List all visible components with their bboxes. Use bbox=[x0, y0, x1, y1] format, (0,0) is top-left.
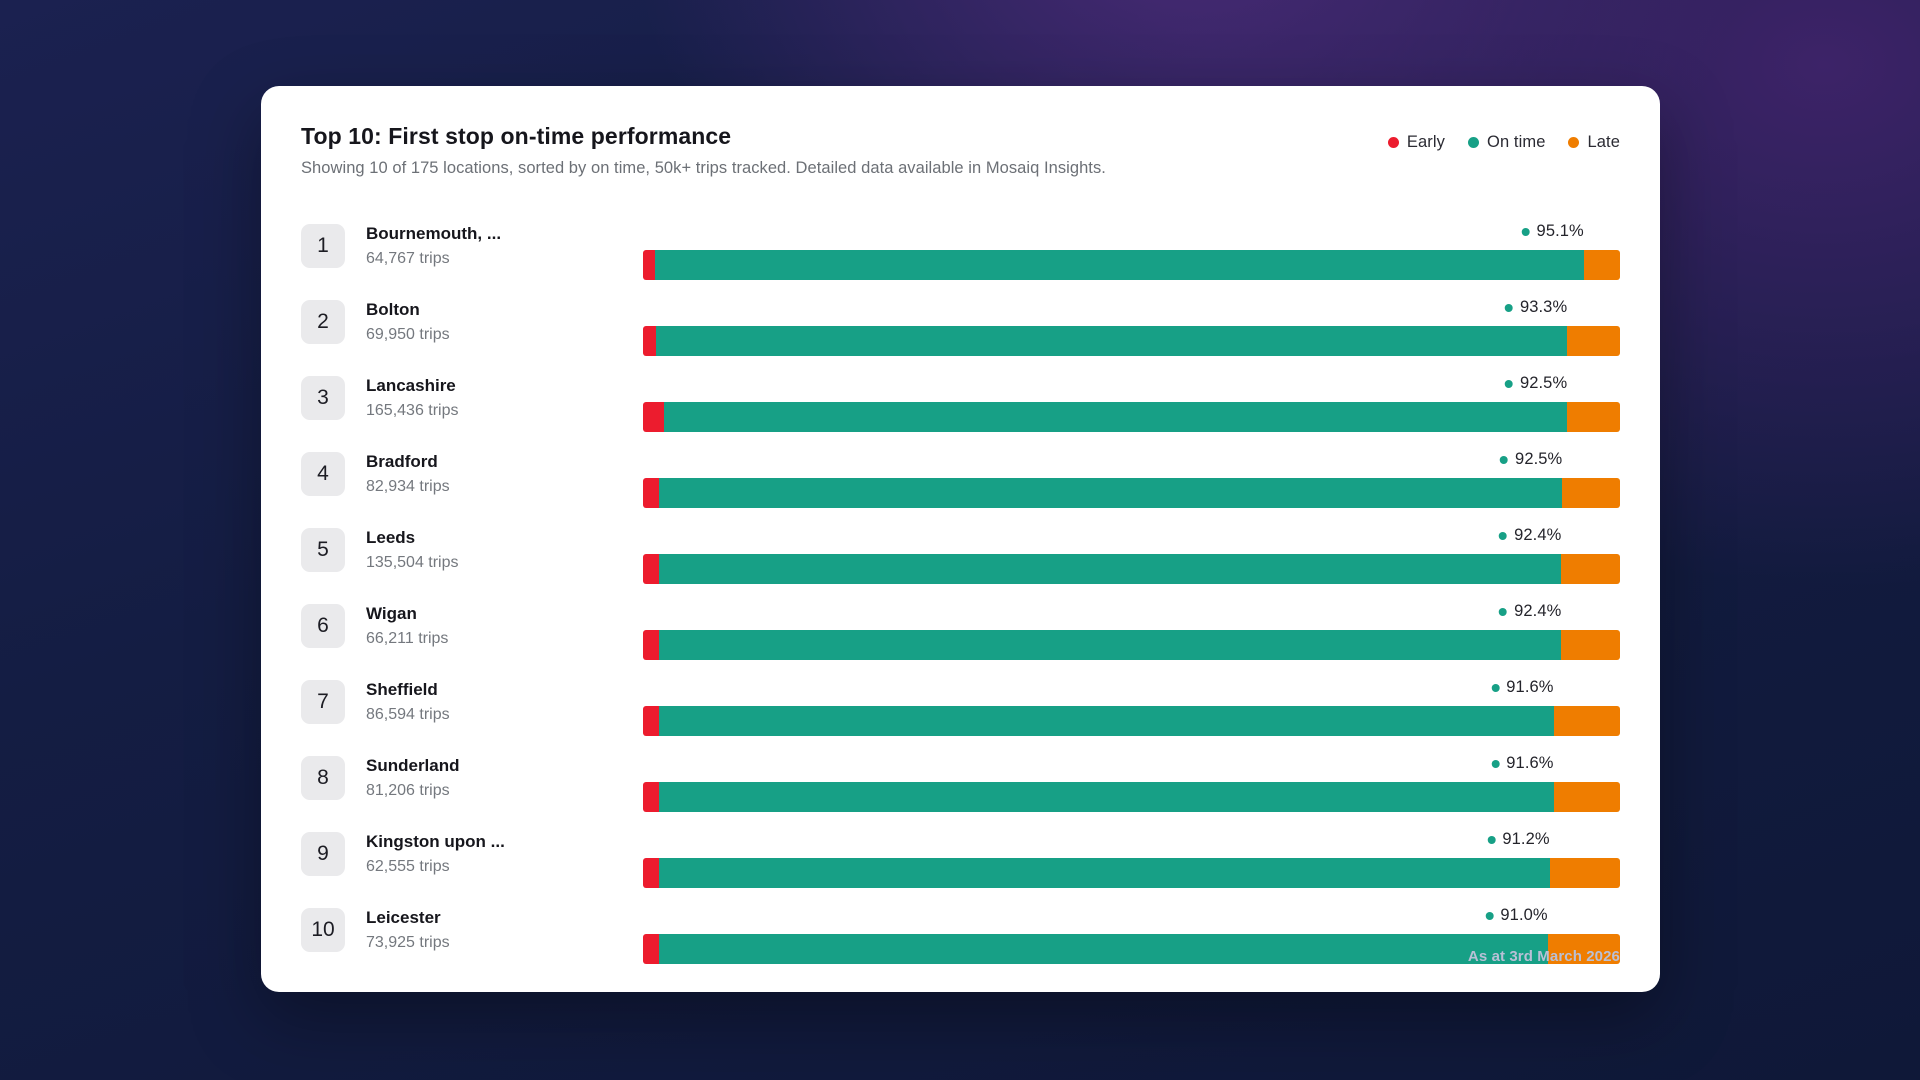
on-time-dot-icon bbox=[1500, 456, 1508, 464]
on-time-percentage-tag: 91.6% bbox=[1491, 678, 1553, 697]
rank-badge: 6 bbox=[301, 604, 345, 648]
trips-count: 86,594 trips bbox=[366, 705, 591, 725]
bar-segment-late[interactable] bbox=[1567, 326, 1620, 356]
stacked-bar[interactable] bbox=[643, 554, 1620, 584]
bar-segment-early[interactable] bbox=[643, 630, 659, 660]
bar-segment-early[interactable] bbox=[643, 934, 659, 964]
location-name: Bournemouth, ... bbox=[366, 223, 591, 244]
on-time-percentage-value: 92.5% bbox=[1520, 374, 1567, 393]
rank-badge: 4 bbox=[301, 452, 345, 496]
ranking-row[interactable]: 4Bradford82,934 trips92.5% bbox=[301, 436, 1620, 512]
bar-segment-early[interactable] bbox=[643, 858, 659, 888]
bar-area: 95.1% bbox=[643, 208, 1620, 284]
row-labels: Sheffield86,594 trips bbox=[366, 679, 591, 724]
row-labels: Wigan66,211 trips bbox=[366, 603, 591, 648]
bar-segment-late[interactable] bbox=[1584, 250, 1620, 280]
rank-badge: 9 bbox=[301, 832, 345, 876]
ranking-row[interactable]: 9Kingston upon ...62,555 trips91.2% bbox=[301, 816, 1620, 892]
bar-segment-ontime[interactable] bbox=[659, 478, 1563, 508]
bar-segment-early[interactable] bbox=[643, 402, 664, 432]
bar-segment-ontime[interactable] bbox=[664, 402, 1568, 432]
on-time-dot-icon bbox=[1505, 380, 1513, 388]
ranking-list: 1Bournemouth, ...64,767 trips95.1%2Bolto… bbox=[301, 208, 1620, 968]
bar-segment-early[interactable] bbox=[643, 250, 655, 280]
ranking-row[interactable]: 3Lancashire165,436 trips92.5% bbox=[301, 360, 1620, 436]
bar-segment-late[interactable] bbox=[1561, 554, 1620, 584]
location-name: Kingston upon ... bbox=[366, 831, 591, 852]
on-time-dot-icon bbox=[1505, 304, 1513, 312]
bar-area: 92.4% bbox=[643, 512, 1620, 588]
page-subtitle: Showing 10 of 175 locations, sorted by o… bbox=[301, 158, 1620, 179]
bar-segment-ontime[interactable] bbox=[656, 326, 1568, 356]
bar-area: 91.6% bbox=[643, 740, 1620, 816]
rank-badge: 2 bbox=[301, 300, 345, 344]
bar-segment-ontime[interactable] bbox=[655, 250, 1584, 280]
ranking-row[interactable]: 7Sheffield86,594 trips91.6% bbox=[301, 664, 1620, 740]
bar-area: 92.5% bbox=[643, 436, 1620, 512]
trips-count: 62,555 trips bbox=[366, 857, 591, 877]
row-labels: Kingston upon ...62,555 trips bbox=[366, 831, 591, 876]
bar-area: 92.4% bbox=[643, 588, 1620, 664]
location-name: Wigan bbox=[366, 603, 591, 624]
bar-segment-ontime[interactable] bbox=[659, 706, 1554, 736]
legend-item-late[interactable]: Late bbox=[1568, 133, 1620, 152]
performance-card: Top 10: First stop on-time performance S… bbox=[261, 86, 1660, 992]
trips-count: 73,925 trips bbox=[366, 933, 591, 953]
on-time-dot-icon bbox=[1491, 760, 1499, 768]
rank-badge: 8 bbox=[301, 756, 345, 800]
bar-segment-late[interactable] bbox=[1554, 782, 1620, 812]
row-labels: Leicester73,925 trips bbox=[366, 907, 591, 952]
on-time-percentage-value: 93.3% bbox=[1520, 298, 1567, 317]
row-labels: Leeds135,504 trips bbox=[366, 527, 591, 572]
row-labels: Lancashire165,436 trips bbox=[366, 375, 591, 420]
on-time-percentage-tag: 92.4% bbox=[1499, 602, 1561, 621]
on-time-dot-icon bbox=[1499, 608, 1507, 616]
location-name: Lancashire bbox=[366, 375, 591, 396]
on-time-dot-icon bbox=[1487, 836, 1495, 844]
on-time-percentage-value: 91.0% bbox=[1500, 906, 1547, 925]
chart-legend: EarlyOn timeLate bbox=[1388, 133, 1620, 152]
card-header: Top 10: First stop on-time performance S… bbox=[301, 122, 1620, 196]
as-at-date: As at 3rd March 2026 bbox=[1468, 948, 1620, 965]
row-labels: Bradford82,934 trips bbox=[366, 451, 591, 496]
stacked-bar[interactable] bbox=[643, 782, 1620, 812]
on-time-percentage-tag: 92.5% bbox=[1505, 374, 1567, 393]
bar-area: 92.5% bbox=[643, 360, 1620, 436]
location-name: Bradford bbox=[366, 451, 591, 472]
on-time-percentage-tag: 91.0% bbox=[1485, 906, 1547, 925]
bar-segment-late[interactable] bbox=[1550, 858, 1620, 888]
stacked-bar[interactable] bbox=[643, 250, 1620, 280]
bar-segment-early[interactable] bbox=[643, 326, 656, 356]
stacked-bar[interactable] bbox=[643, 478, 1620, 508]
location-name: Bolton bbox=[366, 299, 591, 320]
trips-count: 135,504 trips bbox=[366, 553, 591, 573]
stacked-bar[interactable] bbox=[643, 402, 1620, 432]
stacked-bar[interactable] bbox=[643, 630, 1620, 660]
on-time-dot-icon bbox=[1485, 912, 1493, 920]
bar-area: 93.3% bbox=[643, 284, 1620, 360]
on-time-percentage-value: 91.6% bbox=[1506, 754, 1553, 773]
bar-segment-ontime[interactable] bbox=[659, 630, 1562, 660]
bar-segment-early[interactable] bbox=[643, 782, 659, 812]
bar-segment-early[interactable] bbox=[643, 706, 659, 736]
location-name: Sunderland bbox=[366, 755, 591, 776]
location-name: Leeds bbox=[366, 527, 591, 548]
ranking-row[interactable]: 6Wigan66,211 trips92.4% bbox=[301, 588, 1620, 664]
on-time-percentage-value: 91.2% bbox=[1502, 830, 1549, 849]
on-time-percentage-value: 95.1% bbox=[1537, 222, 1584, 241]
on-time-percentage-tag: 91.2% bbox=[1487, 830, 1549, 849]
rank-badge: 3 bbox=[301, 376, 345, 420]
trips-count: 69,950 trips bbox=[366, 325, 591, 345]
ranking-row[interactable]: 10Leicester73,925 trips91.0% bbox=[301, 892, 1620, 968]
bar-segment-late[interactable] bbox=[1561, 630, 1620, 660]
trips-count: 165,436 trips bbox=[366, 401, 591, 421]
on-time-percentage-tag: 92.5% bbox=[1500, 450, 1562, 469]
ranking-row[interactable]: 5Leeds135,504 trips92.4% bbox=[301, 512, 1620, 588]
rank-badge: 1 bbox=[301, 224, 345, 268]
on-time-dot-icon bbox=[1522, 228, 1530, 236]
legend-dot-icon bbox=[1568, 137, 1579, 148]
row-labels: Bolton69,950 trips bbox=[366, 299, 591, 344]
stacked-bar[interactable] bbox=[643, 858, 1620, 888]
on-time-percentage-tag: 91.6% bbox=[1491, 754, 1553, 773]
row-labels: Bournemouth, ...64,767 trips bbox=[366, 223, 591, 268]
bar-segment-ontime[interactable] bbox=[659, 782, 1554, 812]
legend-item-early[interactable]: Early bbox=[1388, 133, 1445, 152]
bar-area: 91.6% bbox=[643, 664, 1620, 740]
legend-label: On time bbox=[1487, 133, 1545, 152]
trips-count: 64,767 trips bbox=[366, 249, 591, 269]
trips-count: 82,934 trips bbox=[366, 477, 591, 497]
location-name: Leicester bbox=[366, 907, 591, 928]
on-time-percentage-value: 91.6% bbox=[1506, 678, 1553, 697]
trips-count: 66,211 trips bbox=[366, 629, 591, 649]
location-name: Sheffield bbox=[366, 679, 591, 700]
rank-badge: 5 bbox=[301, 528, 345, 572]
legend-item-on-time[interactable]: On time bbox=[1468, 133, 1545, 152]
ranking-row[interactable]: 8Sunderland81,206 trips91.6% bbox=[301, 740, 1620, 816]
bar-segment-ontime[interactable] bbox=[659, 554, 1562, 584]
on-time-percentage-tag: 92.4% bbox=[1499, 526, 1561, 545]
on-time-percentage-value: 92.4% bbox=[1514, 602, 1561, 621]
stacked-bar[interactable] bbox=[643, 326, 1620, 356]
bar-segment-ontime[interactable] bbox=[659, 934, 1548, 964]
on-time-percentage-tag: 95.1% bbox=[1522, 222, 1584, 241]
rank-badge: 7 bbox=[301, 680, 345, 724]
stacked-bar[interactable] bbox=[643, 706, 1620, 736]
on-time-percentage-value: 92.4% bbox=[1514, 526, 1561, 545]
legend-label: Early bbox=[1407, 133, 1445, 152]
legend-label: Late bbox=[1587, 133, 1620, 152]
on-time-percentage-tag: 93.3% bbox=[1505, 298, 1567, 317]
bar-segment-early[interactable] bbox=[643, 554, 659, 584]
bar-area: 91.2% bbox=[643, 816, 1620, 892]
row-labels: Sunderland81,206 trips bbox=[366, 755, 591, 800]
bar-segment-early[interactable] bbox=[643, 478, 659, 508]
bar-segment-late[interactable] bbox=[1554, 706, 1620, 736]
bar-segment-late[interactable] bbox=[1567, 402, 1620, 432]
rank-badge: 10 bbox=[301, 908, 345, 952]
on-time-dot-icon bbox=[1499, 532, 1507, 540]
on-time-percentage-value: 92.5% bbox=[1515, 450, 1562, 469]
on-time-dot-icon bbox=[1491, 684, 1499, 692]
ranking-row[interactable]: 2Bolton69,950 trips93.3% bbox=[301, 284, 1620, 360]
legend-dot-icon bbox=[1468, 137, 1479, 148]
legend-dot-icon bbox=[1388, 137, 1399, 148]
bar-segment-ontime[interactable] bbox=[659, 858, 1550, 888]
ranking-row[interactable]: 1Bournemouth, ...64,767 trips95.1% bbox=[301, 208, 1620, 284]
trips-count: 81,206 trips bbox=[366, 781, 591, 801]
bar-segment-late[interactable] bbox=[1562, 478, 1620, 508]
